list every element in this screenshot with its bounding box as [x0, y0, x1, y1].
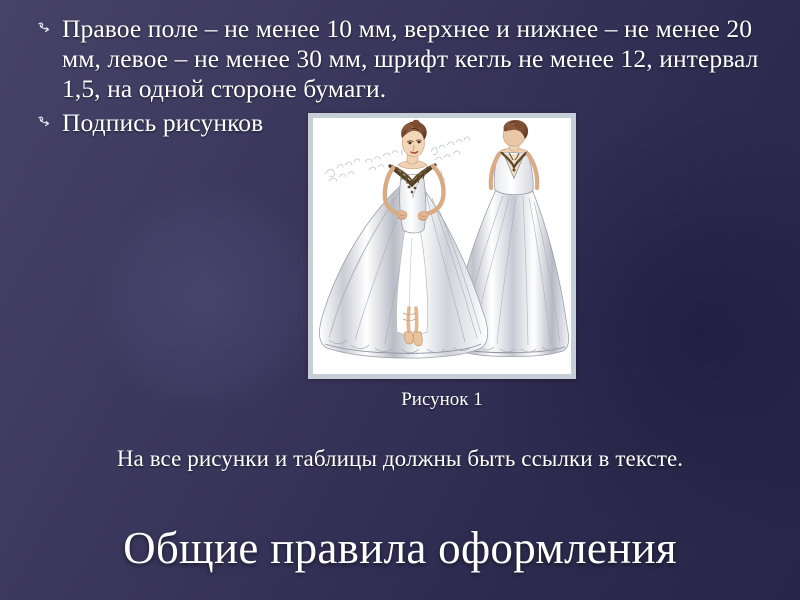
bullet-item-label: Правое поле – не менее 10 мм, верхнее и …: [62, 14, 776, 104]
figure-image-canvas: [313, 118, 571, 374]
pen-bullet-icon: [36, 109, 62, 139]
bullet-item: Правое поле – не менее 10 мм, верхнее и …: [36, 14, 776, 104]
pen-bullet-icon: [36, 15, 62, 45]
figure-image-frame[interactable]: [308, 113, 576, 379]
figure-caption: Рисунок 1: [308, 388, 576, 412]
slide-title: Общие правила оформления: [0, 519, 800, 577]
reference-note-text: На все рисунки и таблицы должны быть ссы…: [0, 444, 800, 474]
presentation-slide: Правое поле – не менее 10 мм, верхнее и …: [0, 0, 800, 600]
